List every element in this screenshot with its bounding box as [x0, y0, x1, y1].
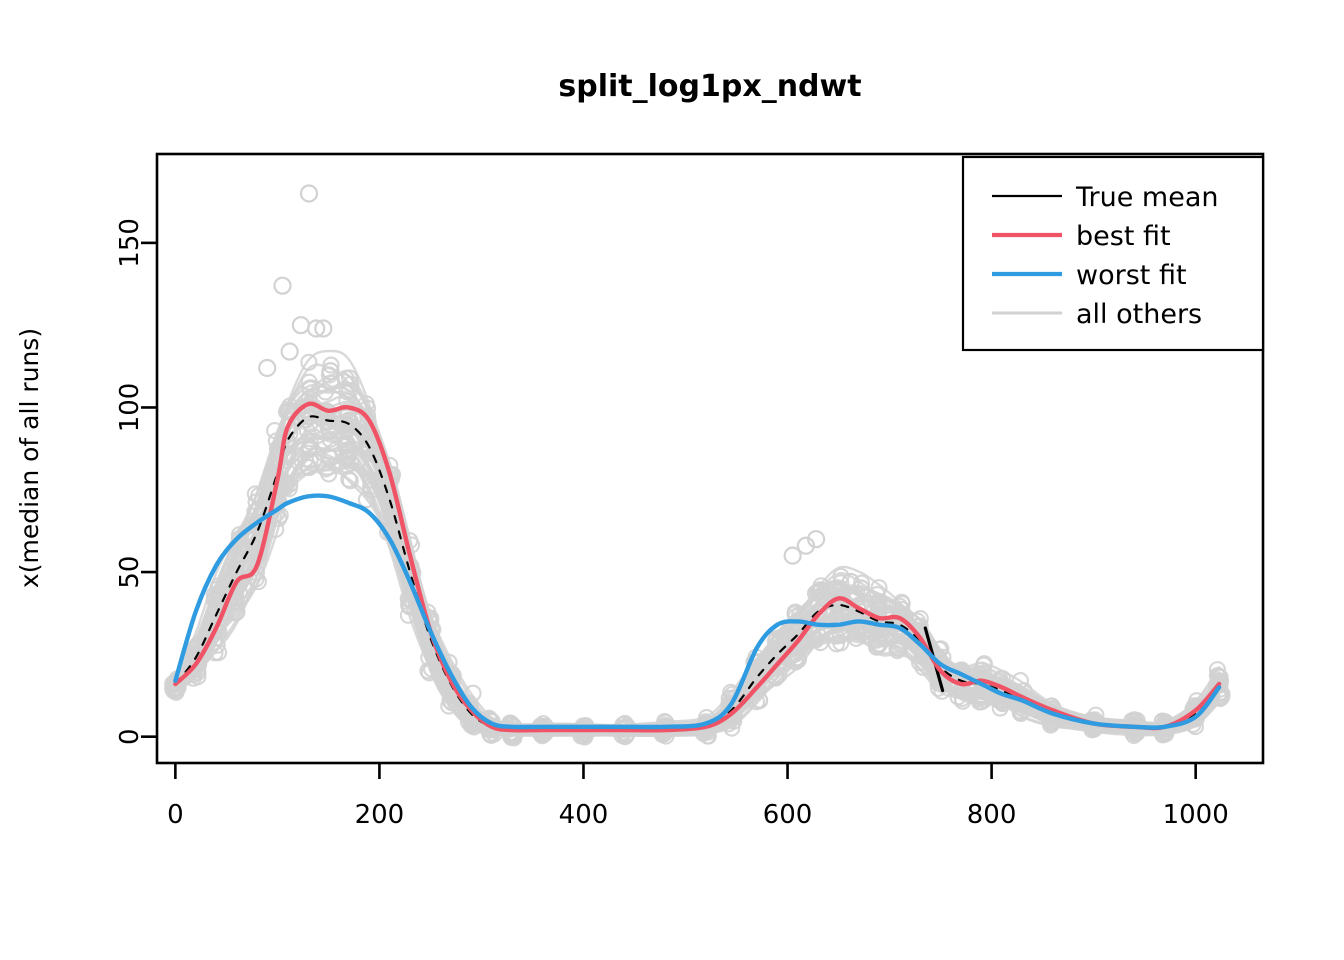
y-axis-label: x(median of all runs) — [15, 328, 44, 588]
y-tick-label: 0 — [115, 728, 145, 745]
legend-label-best-fit[interactable]: best fit — [1076, 221, 1171, 252]
x-tick-label: 800 — [967, 800, 1017, 830]
legend-label-all-others[interactable]: all others — [1076, 299, 1202, 330]
legend-label-worst-fit[interactable]: worst fit — [1076, 260, 1187, 291]
x-tick-label: 200 — [355, 800, 405, 830]
legend-label-true-mean[interactable]: True mean — [1075, 182, 1219, 213]
legend[interactable]: True meanbest fitworst fitall others — [963, 157, 1263, 350]
x-tick-label: 1000 — [1163, 800, 1229, 830]
x-tick-label: 400 — [559, 800, 609, 830]
y-tick-label: 150 — [115, 218, 145, 268]
y-tick-label: 50 — [115, 556, 145, 589]
chart-canvas: split_log1px_ndwt x(median of all runs) … — [0, 0, 1344, 960]
x-tick-label: 600 — [763, 800, 813, 830]
figure-background — [0, 0, 1344, 960]
y-tick-label: 100 — [115, 383, 145, 433]
page-title: split_log1px_ndwt — [558, 69, 861, 104]
x-tick-label: 0 — [167, 800, 184, 830]
figure-container: split_log1px_ndwt x(median of all runs) … — [0, 0, 1344, 960]
